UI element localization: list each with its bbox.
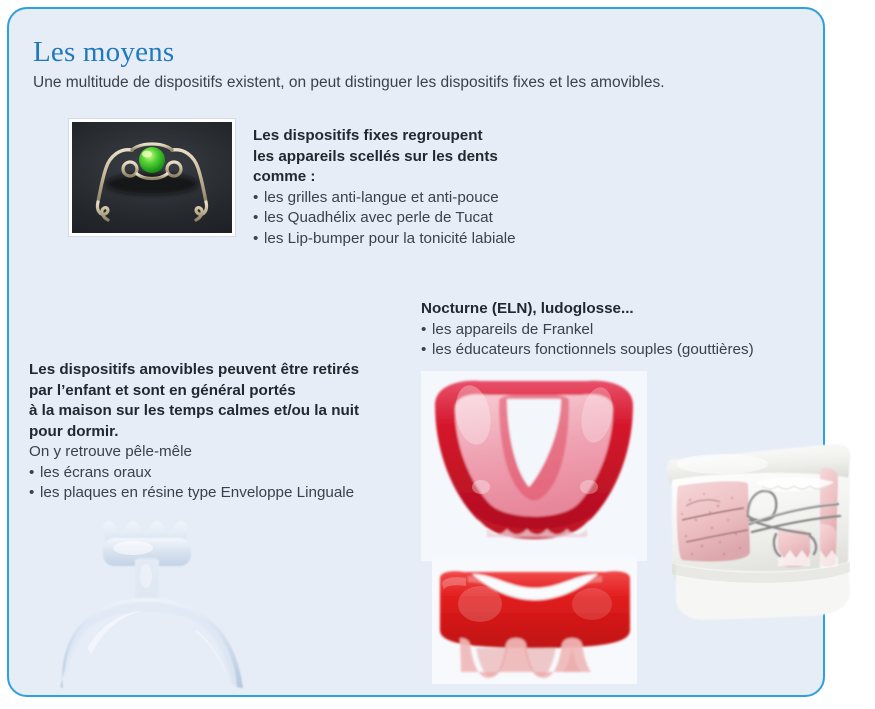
- removable-heading-line-3: à la maison sur les temps calmes et/ou l…: [29, 401, 359, 422]
- nocturnal-bullet-2: les éducateurs fonctionnels souples (gou…: [421, 340, 754, 361]
- fixed-bullet-3: les Lip-bumper pour la tonicité labiale: [253, 229, 516, 250]
- mouthguard-front-illustration: [432, 556, 637, 684]
- removable-heading-line-1: Les dispositifs amovibles peuvent être r…: [29, 360, 359, 381]
- removable-bullet-1: les écrans oraux: [29, 463, 359, 484]
- photo-inner: [72, 122, 232, 233]
- quadhelix-appliance-photo: [69, 119, 235, 236]
- removable-heading-line-2: par l’enfant et sont en général portés: [29, 381, 359, 402]
- fixed-heading-line-1: Les dispositifs fixes regroupent: [253, 126, 516, 147]
- mouthguard-top-illustration: [421, 371, 647, 561]
- nocturnal-heading: Nocturne (ELN), ludoglosse...: [421, 299, 754, 320]
- fixed-bullet-2: les Quadhélix avec perle de Tucat: [253, 208, 516, 229]
- page-subtitle: Une multitude de dispositifs existent, o…: [33, 74, 665, 92]
- dental-model-illustration: [652, 424, 875, 662]
- oral-screen-device: [47, 498, 247, 698]
- quadhelix-illustration: [72, 122, 232, 233]
- fixed-heading-line-2: les appareils scellés sur les dents: [253, 147, 516, 168]
- removable-devices-text-block: Les dispositifs amovibles peuvent être r…: [29, 360, 359, 504]
- fixed-bullet-1: les grilles anti-langue et anti-pouce: [253, 188, 516, 209]
- page-title: Les moyens: [33, 36, 174, 69]
- oral-screen-illustration: [47, 498, 247, 698]
- fixed-heading-line-3: comme :: [253, 167, 516, 188]
- dental-cast-model: [652, 424, 875, 662]
- removable-heading-line-4: pour dormir.: [29, 422, 359, 443]
- nocturnal-bullet-1: les appareils de Frankel: [421, 320, 754, 341]
- nocturnal-devices-text-block: Nocturne (ELN), ludoglosse... les appare…: [421, 299, 754, 361]
- removable-intro-line: On y retrouve pêle-mêle: [29, 442, 359, 463]
- mouthguard-front-view: [432, 556, 637, 684]
- fixed-devices-text-block: Les dispositifs fixes regroupent les app…: [253, 126, 516, 249]
- mouthguard-top-view: [421, 371, 647, 561]
